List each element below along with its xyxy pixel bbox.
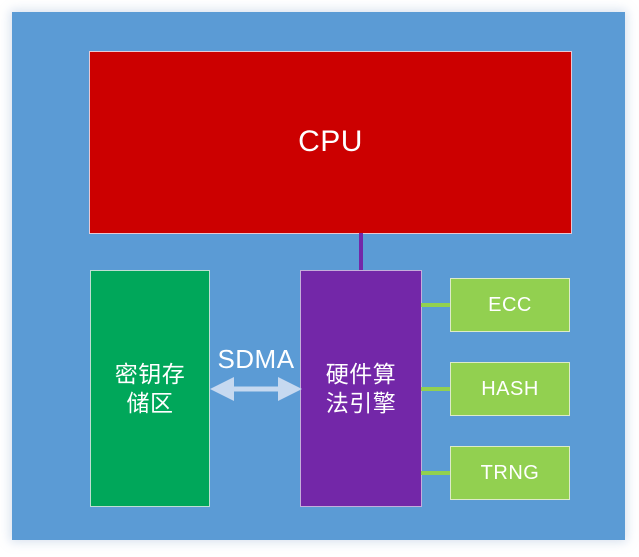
node-key-storage[interactable]: 密钥存 储区: [90, 270, 210, 507]
connector-engine-to-hash: [421, 387, 451, 391]
node-hash[interactable]: HASH: [450, 362, 570, 416]
node-crypto-engine[interactable]: 硬件算 法引擎: [300, 270, 422, 507]
node-ecc[interactable]: ECC: [450, 278, 570, 332]
node-trng[interactable]: TRNG: [450, 446, 570, 500]
node-cpu[interactable]: CPU: [89, 51, 572, 234]
sdma-label: SDMA: [210, 344, 302, 375]
connector-cpu-to-engine: [359, 233, 363, 271]
diagram-panel: CPU 密钥存 储区 硬件算 法引擎 SDMA ECC HASH TRNG: [12, 12, 625, 540]
diagram-canvas: CPU 密钥存 储区 硬件算 法引擎 SDMA ECC HASH TRNG: [0, 0, 639, 557]
connector-engine-to-ecc: [421, 303, 451, 307]
double-arrow-icon: [210, 374, 302, 404]
connector-engine-to-trng: [421, 471, 451, 475]
